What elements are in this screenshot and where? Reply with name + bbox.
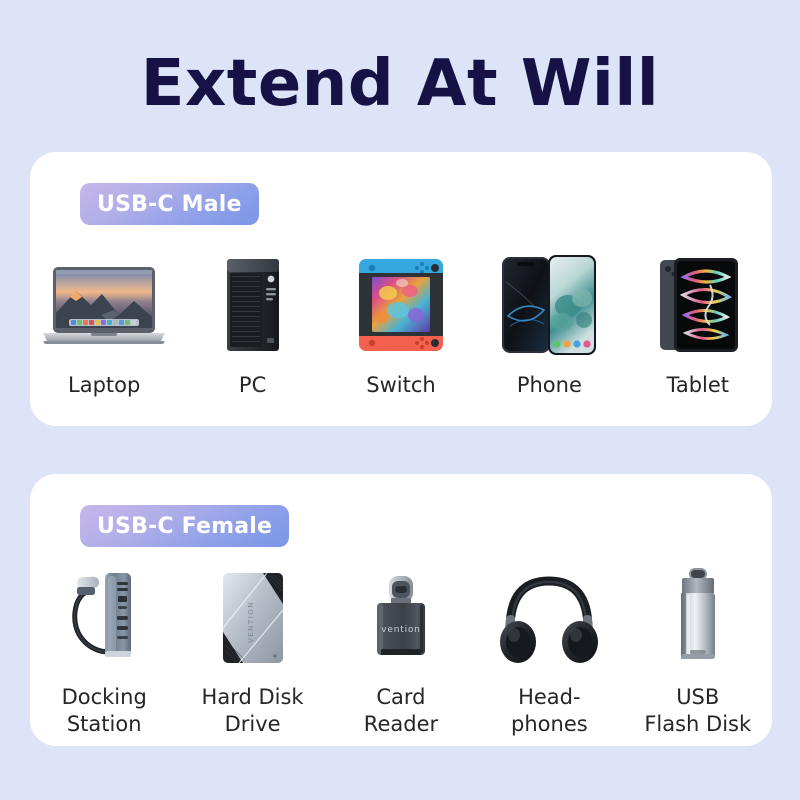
tablet-art (652, 250, 744, 360)
usb-c-female-device-row: Docking Station (30, 566, 772, 738)
docking-station-icon (61, 568, 147, 668)
device-label: Card Reader (364, 684, 438, 738)
device-label: Tablet (666, 372, 729, 399)
smartphone-icon (500, 254, 598, 356)
card-reader-icon: vention (365, 570, 437, 666)
headphones-icon (498, 571, 600, 665)
usb-c-female-badge: USB-C Female (80, 505, 289, 547)
device-laptop[interactable]: Laptop (30, 250, 178, 399)
device-label: Phone (517, 372, 582, 399)
svg-text:vention: vention (381, 625, 420, 635)
svg-text:VENTION: VENTION (247, 601, 255, 643)
device-pc[interactable]: PC (179, 250, 327, 399)
device-label: Head- phones (511, 684, 588, 738)
page-title: Extend At Will (0, 52, 800, 116)
usb-c-male-badge: USB-C Male (80, 183, 259, 225)
docking-station-art (61, 566, 147, 670)
device-card-reader[interactable]: vention Card Reader (327, 566, 475, 738)
device-label: Switch (366, 372, 435, 399)
switch-art (358, 250, 444, 360)
game-console-icon (358, 255, 444, 355)
hard-disk-drive-icon: VENTION (217, 570, 289, 666)
desktop-tower-icon (219, 255, 287, 355)
device-label: Laptop (68, 372, 140, 399)
usb-flash-disk-art (668, 566, 728, 670)
phone-art (500, 250, 598, 360)
usb-c-male-device-row: Laptop (30, 250, 772, 399)
tablet-icon (652, 255, 744, 355)
device-docking-station[interactable]: Docking Station (30, 566, 178, 738)
card-reader-art: vention (365, 566, 437, 670)
pc-art (219, 250, 287, 360)
device-label: PC (239, 372, 266, 399)
device-tablet[interactable]: Tablet (624, 250, 772, 399)
device-hard-disk-drive[interactable]: VENTION Hard Disk Drive (179, 566, 327, 738)
device-phone[interactable]: Phone (475, 250, 623, 399)
usb-c-male-card: USB-C Male (30, 152, 772, 426)
usb-c-female-card: USB-C Female (30, 474, 772, 746)
usb-flash-disk-icon (668, 566, 728, 670)
headphones-art (498, 566, 600, 670)
laptop-art (39, 250, 169, 360)
device-switch[interactable]: Switch (327, 250, 475, 399)
device-headphones[interactable]: Head- phones (475, 566, 623, 738)
device-label: USB Flash Disk (644, 684, 751, 738)
laptop-icon (39, 261, 169, 349)
device-usb-flash-disk[interactable]: USB Flash Disk (624, 566, 772, 738)
device-label: Hard Disk Drive (202, 684, 304, 738)
device-label: Docking Station (62, 684, 147, 738)
hard-disk-drive-art: VENTION (217, 566, 289, 670)
